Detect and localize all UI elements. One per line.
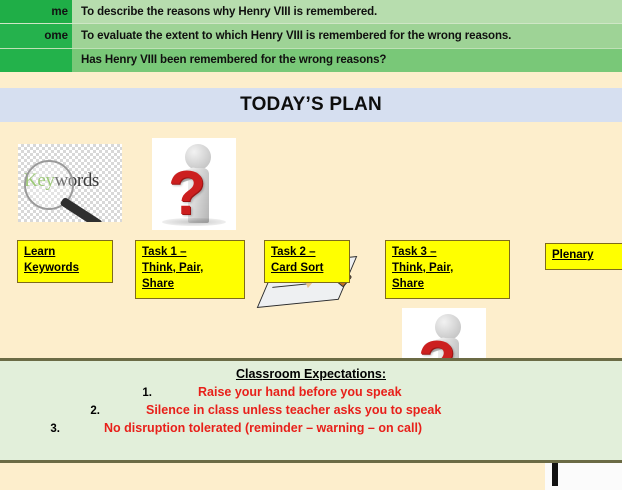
- plan-label-line: Task 1 –: [142, 245, 238, 261]
- rule-text: Raise your hand before you speak: [198, 385, 402, 399]
- plan-label-task-3[interactable]: Task 3 – Think, Pair, Share: [385, 240, 510, 299]
- thinking-person-icon: ?: [152, 138, 236, 230]
- objective-label: [0, 49, 72, 72]
- plan-label-line: Share: [392, 277, 503, 293]
- expectations-title: Classroom Expectations:: [0, 367, 622, 381]
- plan-items-area: Keywords Learn Keywords ? Task 1 – Think…: [0, 130, 622, 335]
- rule-number: 3.: [0, 423, 60, 435]
- objective-row: me To describe the reasons why Henry VII…: [0, 0, 622, 24]
- question-mark-icon: ?: [168, 168, 206, 220]
- keywords-magnifier-icon: Keywords: [18, 144, 122, 222]
- rule-text: Silence in class unless teacher asks you…: [146, 403, 441, 417]
- expectation-rule: 2. Silence in class unless teacher asks …: [0, 403, 622, 417]
- plan-label-task-1[interactable]: Task 1 – Think, Pair, Share: [135, 240, 245, 299]
- objective-label: ome: [0, 24, 72, 47]
- plan-label-plenary[interactable]: Plenary: [545, 243, 622, 270]
- magnifier-handle-icon: [60, 197, 103, 222]
- plan-label-learn-keywords[interactable]: Learn Keywords: [17, 240, 113, 283]
- expectation-rule: 3. No disruption tolerated (reminder – w…: [0, 421, 622, 435]
- plan-label-line: Task 2 –: [271, 245, 343, 261]
- expectation-rule: 1. Raise your hand before you speak: [0, 385, 622, 399]
- figure-shadow: [162, 218, 226, 226]
- objective-text: To evaluate the extent to which Henry VI…: [72, 24, 622, 47]
- plan-label-line: Keywords: [24, 261, 106, 277]
- objective-row: Has Henry VIII been remembered for the w…: [0, 49, 622, 72]
- rule-text: No disruption tolerated (reminder – warn…: [104, 421, 422, 435]
- lesson-slide: me To describe the reasons why Henry VII…: [0, 0, 622, 467]
- objective-text: To describe the reasons why Henry VIII i…: [72, 0, 622, 23]
- learning-objectives-table: me To describe the reasons why Henry VII…: [0, 0, 622, 72]
- plan-label-line: Plenary: [552, 248, 622, 264]
- plan-label-line: Card Sort: [271, 261, 343, 277]
- key-question-text: Has Henry VIII been remembered for the w…: [72, 49, 622, 72]
- plan-label-line: Task 3 –: [392, 245, 503, 261]
- todays-plan-banner: TODAY’S PLAN: [0, 88, 622, 122]
- plan-label-task-2[interactable]: Task 2 – Card Sort: [264, 240, 350, 283]
- plan-label-line: Share: [142, 277, 238, 293]
- plan-label-line: Think, Pair,: [392, 261, 503, 277]
- objective-row: ome To evaluate the extent to which Henr…: [0, 24, 622, 48]
- todays-plan-title: TODAY’S PLAN: [240, 94, 382, 116]
- objective-label: me: [0, 0, 72, 23]
- classroom-expectations-panel: Classroom Expectations: 1. Raise your ha…: [0, 358, 622, 463]
- rule-number: 1.: [0, 387, 152, 399]
- plan-label-line: Think, Pair,: [142, 261, 238, 277]
- rule-number: 2.: [0, 405, 100, 417]
- plan-label-line: Learn: [24, 245, 106, 261]
